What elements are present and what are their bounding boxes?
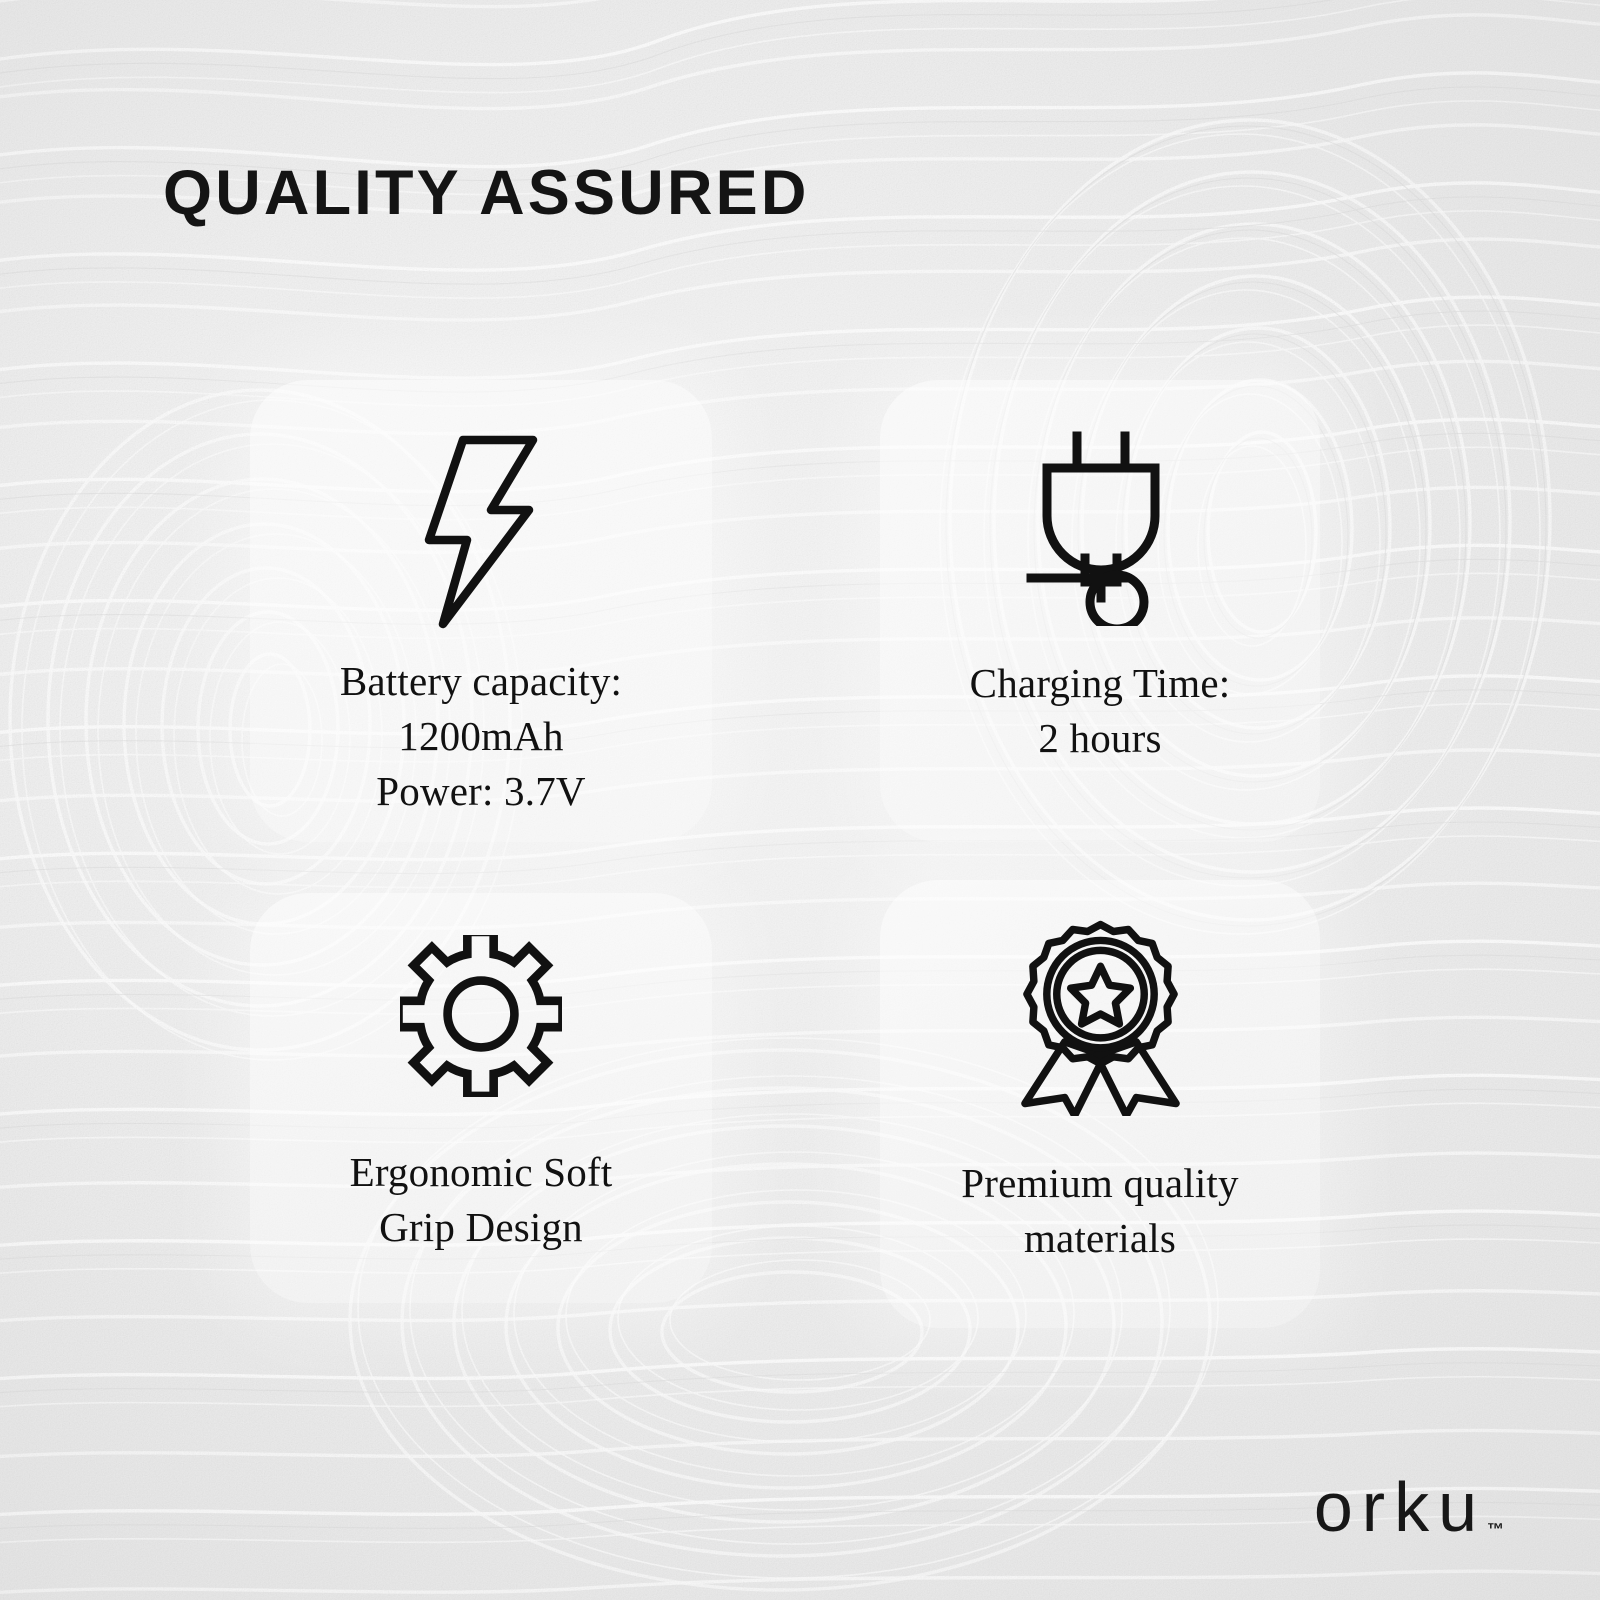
card-line: Charging Time: <box>970 656 1231 711</box>
card-line: materials <box>961 1211 1238 1266</box>
feature-card-premium: Premium quality materials <box>880 880 1320 1328</box>
infographic-canvas: QUALITY ASSURED Battery capacity: 1200mA… <box>0 0 1600 1600</box>
feature-card-premium-text: Premium quality materials <box>961 1156 1238 1266</box>
power-plug-icon <box>1025 430 1175 626</box>
card-line: Premium quality <box>961 1156 1238 1211</box>
feature-card-grip: Ergonomic Soft Grip Design <box>250 893 712 1303</box>
brand-logo: orku ™ <box>1314 1472 1504 1542</box>
background-vignette <box>0 0 1600 1600</box>
card-line: Ergonomic Soft <box>350 1145 613 1200</box>
award-badge-icon <box>1013 920 1188 1116</box>
trademark-symbol: ™ <box>1487 1521 1504 1538</box>
gear-icon <box>400 935 562 1097</box>
card-line: Grip Design <box>350 1200 613 1255</box>
card-line: 1200mAh <box>340 709 622 764</box>
page-title: QUALITY ASSURED <box>163 160 810 226</box>
feature-card-battery-text: Battery capacity: 1200mAh Power: 3.7V <box>340 654 622 819</box>
feature-card-battery: Battery capacity: 1200mAh Power: 3.7V <box>250 380 712 842</box>
feature-card-charging-text: Charging Time: 2 hours <box>970 656 1231 766</box>
card-line: 2 hours <box>970 711 1231 766</box>
feature-card-charging: Charging Time: 2 hours <box>880 380 1320 842</box>
lightning-bolt-icon <box>405 432 557 632</box>
card-line: Battery capacity: <box>340 654 622 709</box>
feature-card-grip-text: Ergonomic Soft Grip Design <box>350 1145 613 1255</box>
brand-logo-wordmark: orku <box>1314 1472 1486 1542</box>
card-line: Power: 3.7V <box>340 764 622 819</box>
